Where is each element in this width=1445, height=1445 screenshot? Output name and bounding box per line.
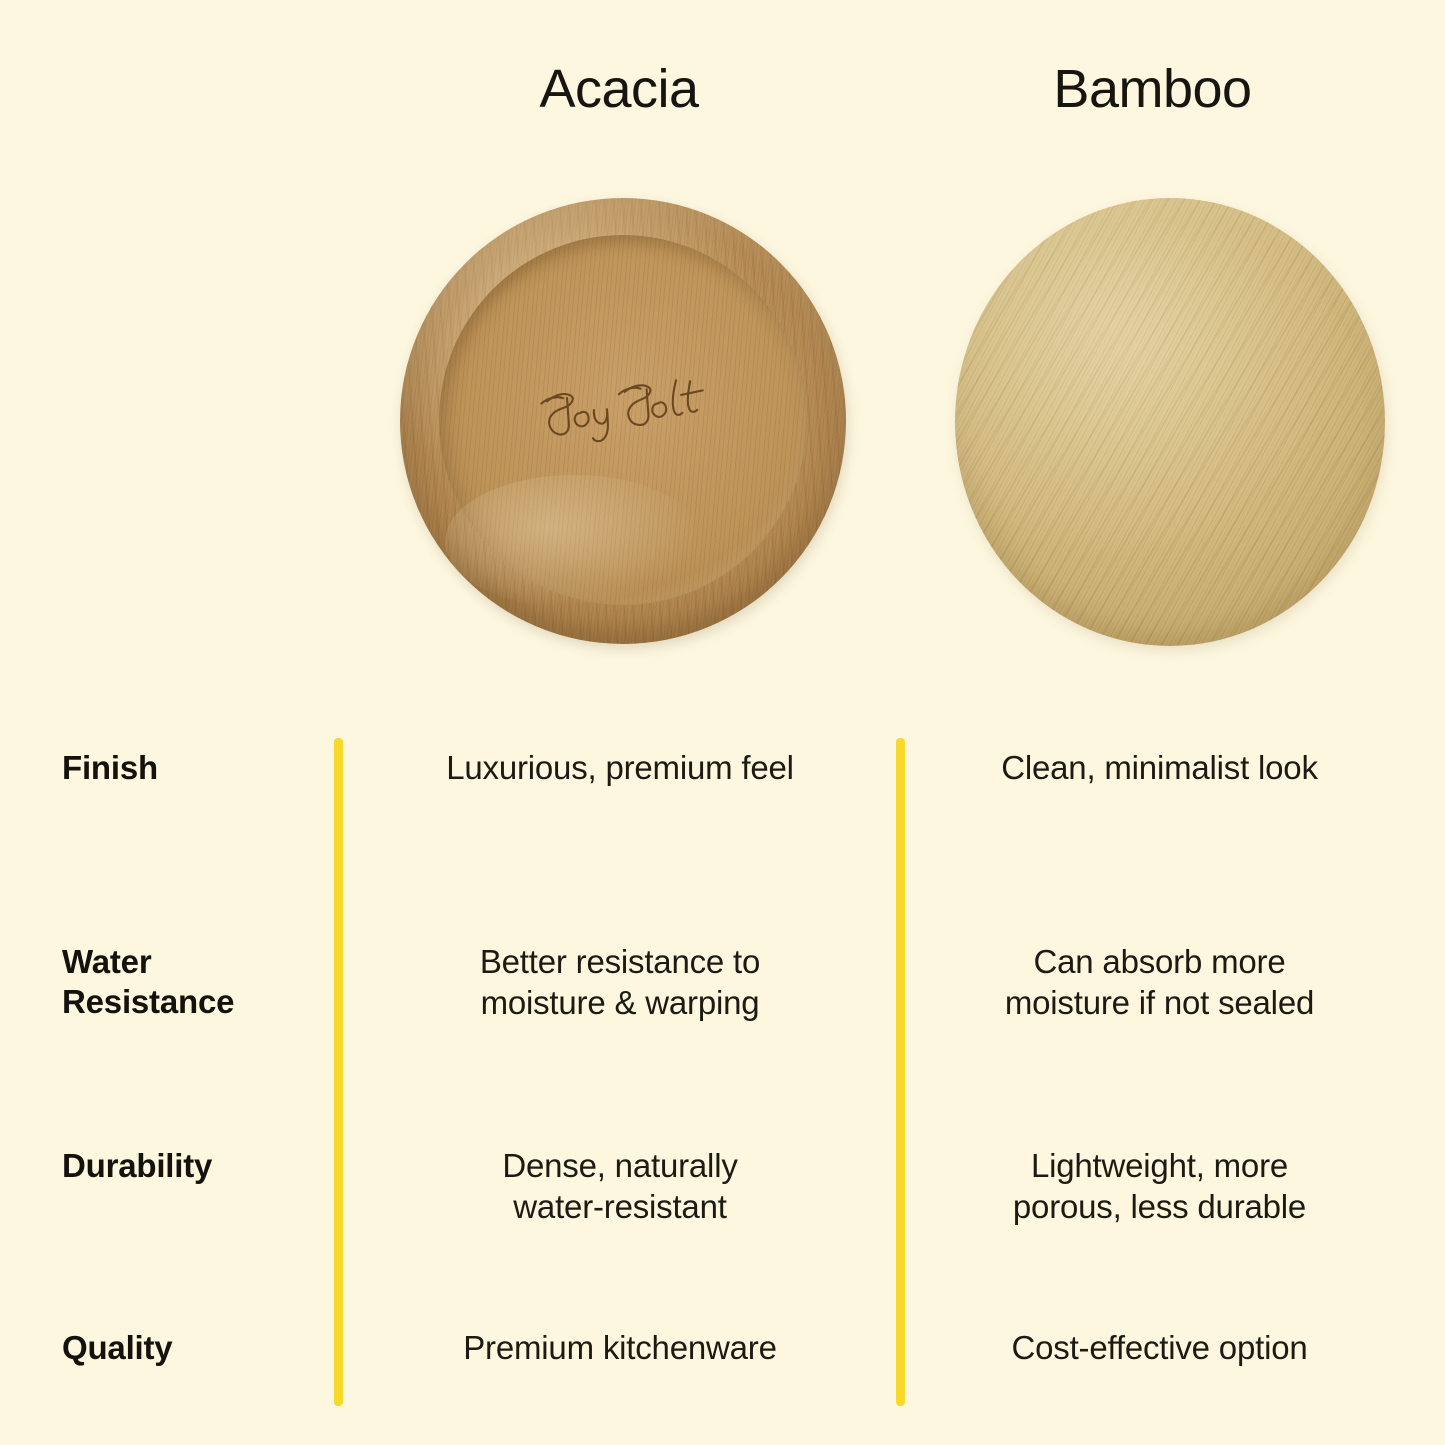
cell-finish-bamboo: Clean, minimalist look: [912, 748, 1407, 789]
cell-finish-acacia: Luxurious, premium feel: [350, 748, 890, 789]
cell-water-resistance-bamboo: Can absorb more moisture if not sealed: [912, 942, 1407, 1024]
column-divider-acacia: [334, 738, 343, 1406]
acacia-plate-image: [400, 198, 846, 644]
column-divider-bamboo: [896, 738, 905, 1406]
column-header-acacia: Acacia: [338, 58, 900, 120]
row-label-quality: Quality: [62, 1328, 324, 1368]
cell-quality-bamboo: Cost-effective option: [912, 1328, 1407, 1369]
cell-water-resistance-acacia: Better resistance to moisture & warping: [350, 942, 890, 1024]
bamboo-plate-image: [955, 198, 1385, 646]
column-header-bamboo: Bamboo: [900, 58, 1405, 120]
row-label-finish: Finish: [62, 748, 324, 788]
cell-durability-acacia: Dense, naturally water-resistant: [350, 1146, 890, 1228]
comparison-infographic: Acacia Bamboo: [0, 0, 1445, 1445]
cell-durability-bamboo: Lightweight, more porous, less durable: [912, 1146, 1407, 1228]
cell-quality-acacia: Premium kitchenware: [350, 1328, 890, 1369]
joyjolt-logo-engraving: [526, 365, 721, 454]
row-label-durability: Durability: [62, 1146, 324, 1186]
row-label-water-resistance: Water Resistance: [62, 942, 324, 1023]
